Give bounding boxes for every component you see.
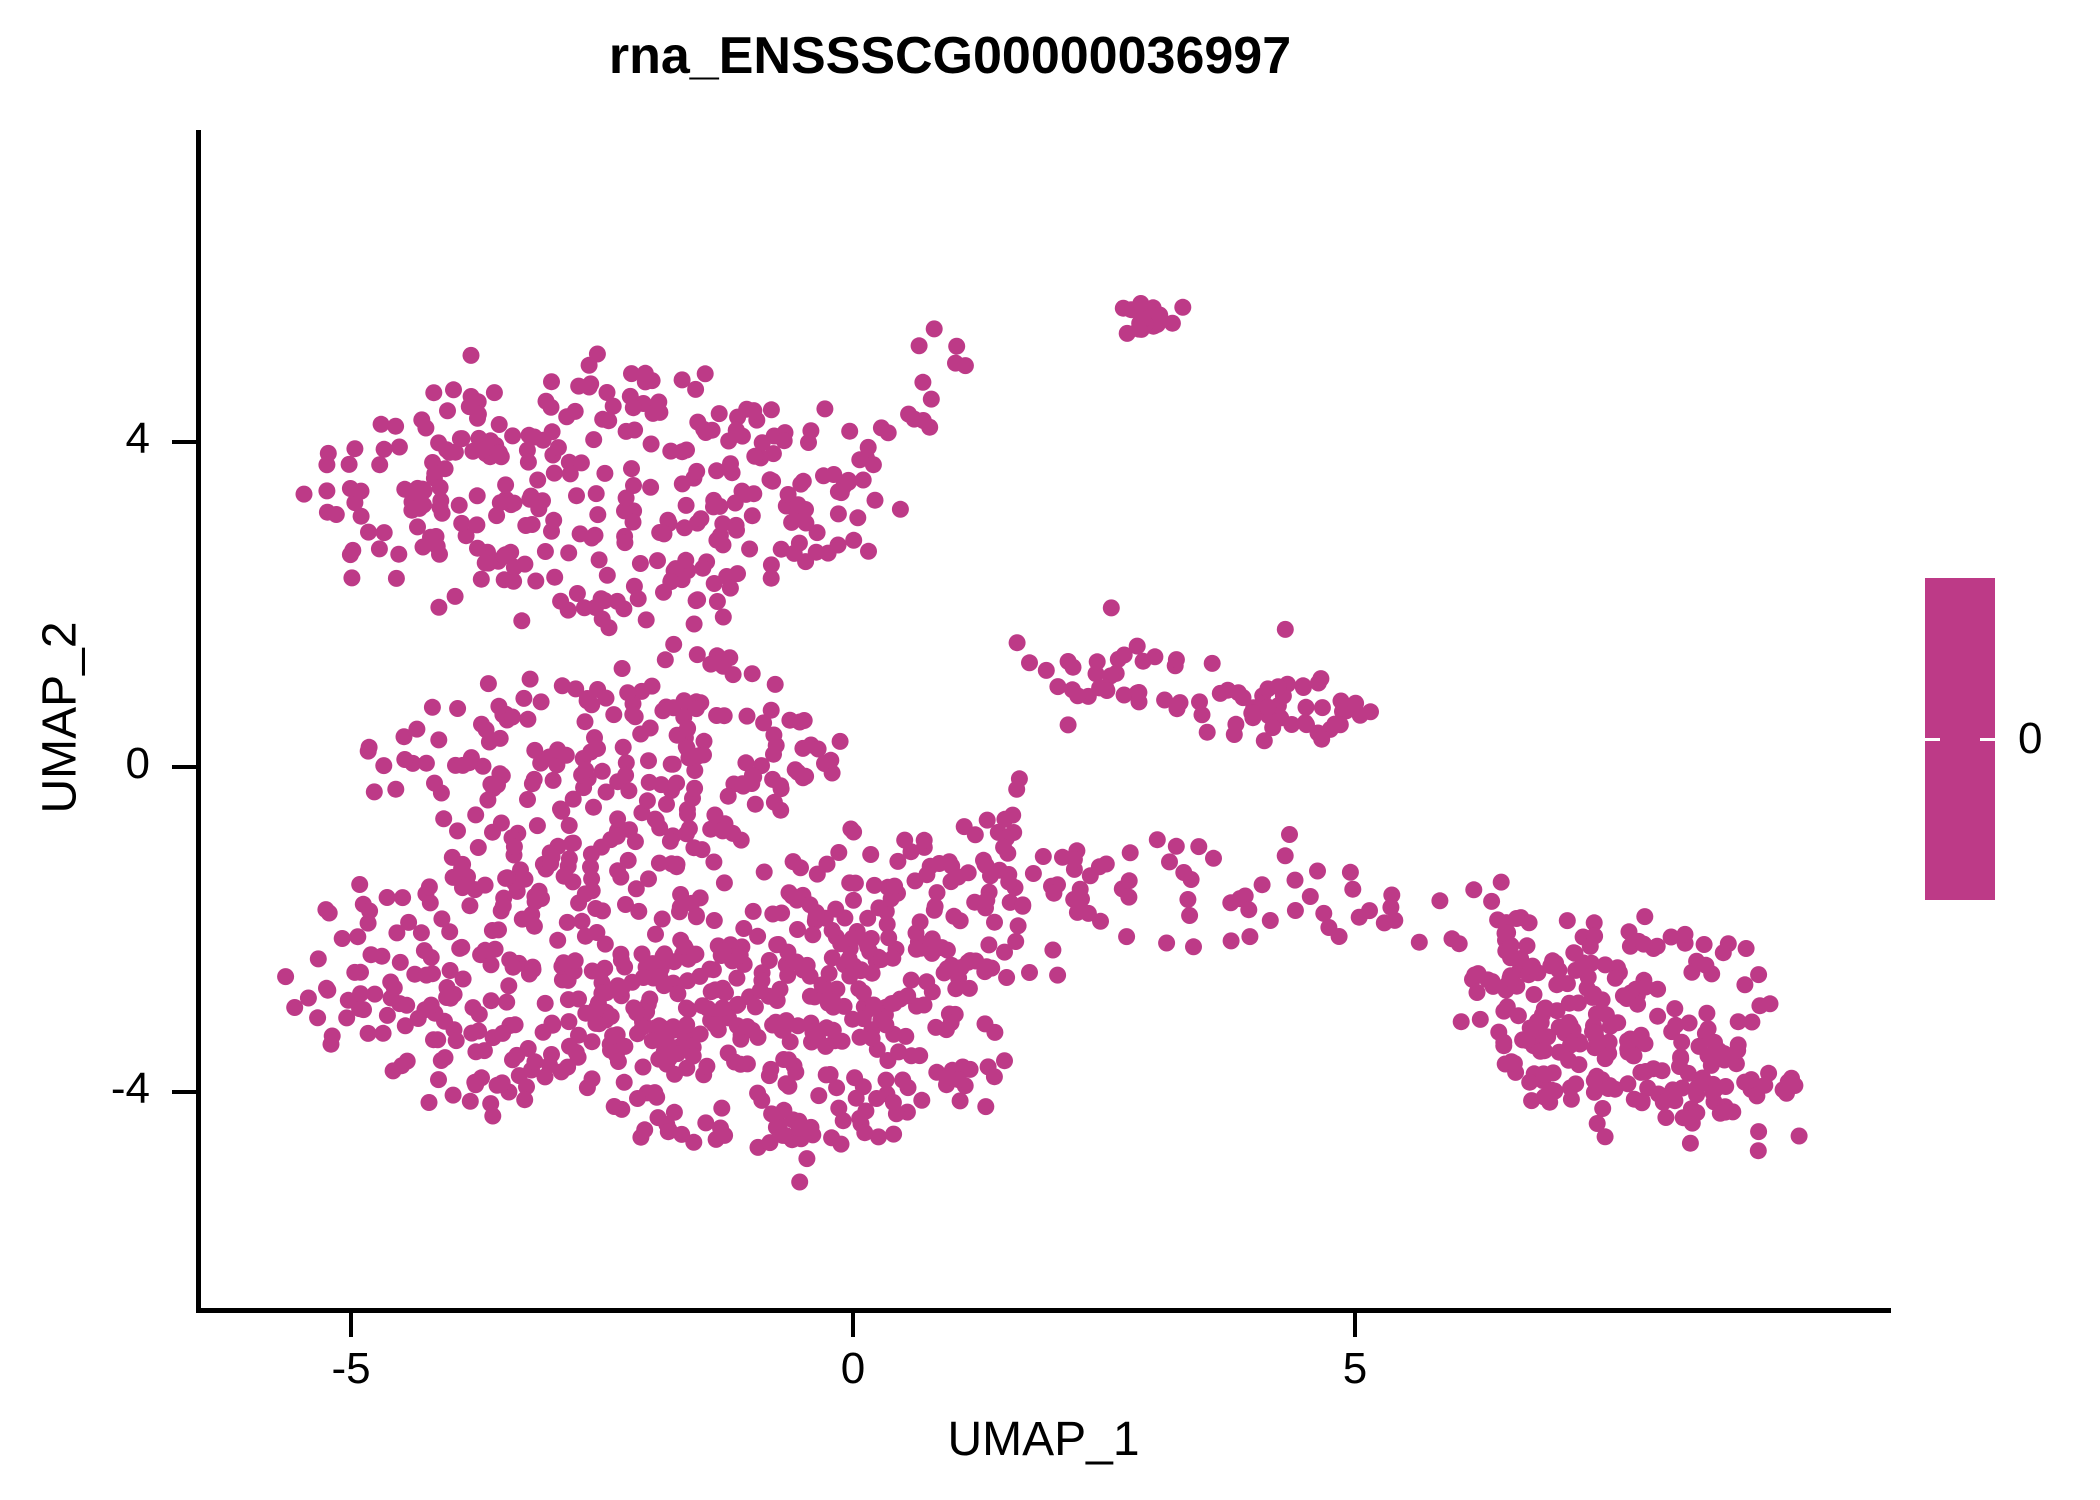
- umap-feature-plot: rna_ENSSSCG00000036997 4 0 -4 -5 0 5 UMA…: [0, 0, 2100, 1500]
- colorbar-legend: [1925, 578, 1995, 900]
- x-ticklabel-5: 5: [1275, 1344, 1435, 1394]
- colorbar-tick-left: [1925, 738, 1940, 741]
- y-ticklabel--4: -4: [10, 1064, 150, 1114]
- plot-panel: [196, 130, 1891, 1310]
- colorbar-ticklabel-0: 0: [2018, 714, 2042, 764]
- x-tick--5: [349, 1313, 353, 1337]
- y-tick-4: [172, 440, 196, 444]
- scatter-points-layer: [196, 130, 1891, 1310]
- y-axis-label: UMAP_2: [33, 418, 88, 1018]
- y-tick--4: [172, 1090, 196, 1094]
- x-ticklabel--5: -5: [271, 1344, 431, 1394]
- page-title: rna_ENSSSCG00000036997: [0, 26, 1900, 86]
- x-axis-label: UMAP_1: [196, 1412, 1891, 1467]
- x-tick-0: [851, 1313, 855, 1337]
- x-ticklabel-0: 0: [773, 1344, 933, 1394]
- colorbar-tick-right: [1980, 738, 1995, 741]
- x-tick-5: [1353, 1313, 1357, 1337]
- y-tick-0: [172, 765, 196, 769]
